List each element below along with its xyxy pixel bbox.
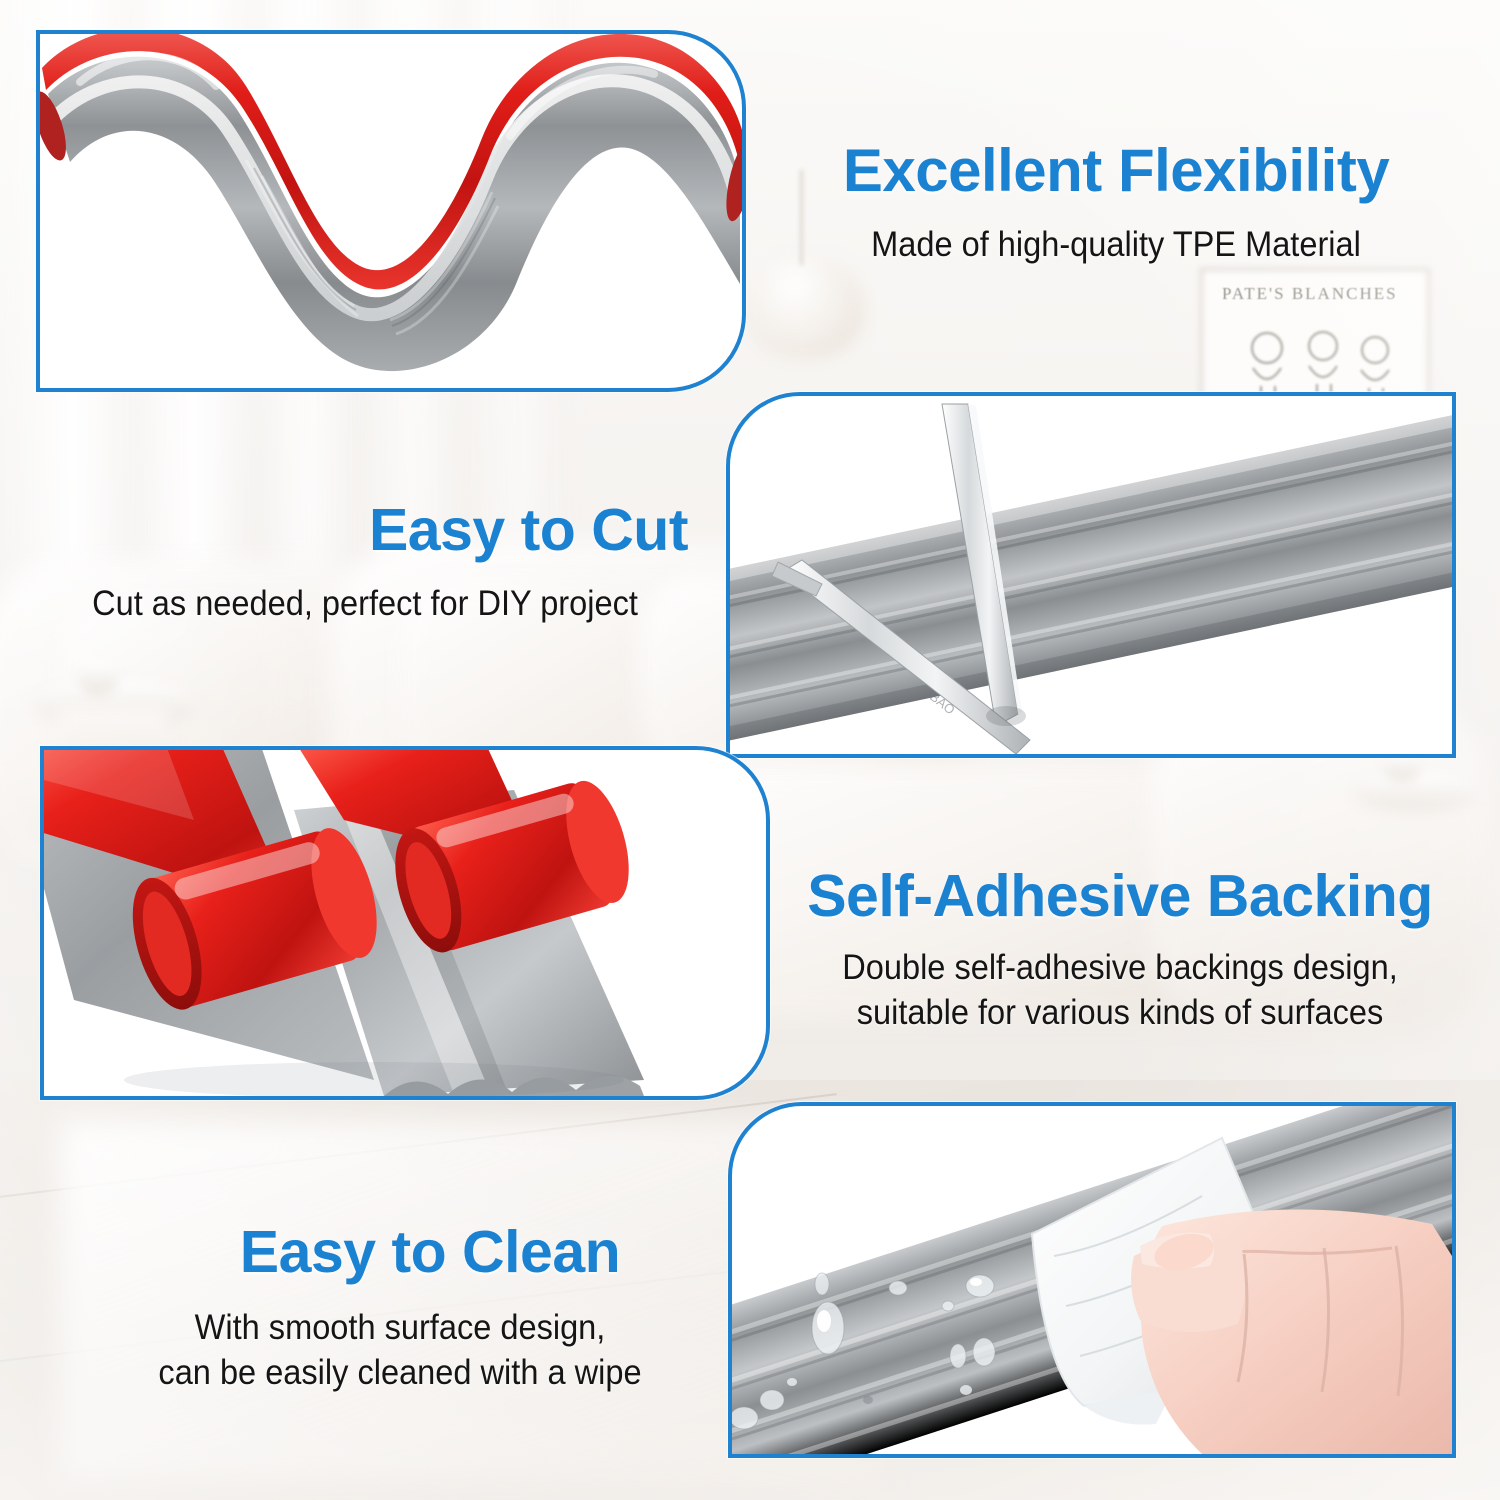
- feature-body-self-adhesive-line2: suitable for various kinds of surfaces: [795, 992, 1446, 1035]
- feature-text-self-adhesive: Self-Adhesive Backing Double self-adhesi…: [770, 866, 1470, 1035]
- feature-heading-easy-to-clean: Easy to Clean: [60, 1222, 740, 1283]
- feature-body-easy-to-clean-line2: can be easily cleaned with a wipe: [84, 1352, 716, 1395]
- feature-heading-flexibility: Excellent Flexibility: [760, 140, 1472, 202]
- feature-image-self-adhesive: [40, 746, 770, 1100]
- feature-text-flexibility: Excellent Flexibility Made of high-quali…: [760, 140, 1472, 267]
- feature-text-easy-to-cut: Easy to Cut Cut as needed, perfect for D…: [20, 500, 710, 626]
- feature-image-easy-to-cut: IBAO: [726, 392, 1456, 758]
- feature-heading-easy-to-cut: Easy to Cut: [20, 500, 710, 561]
- hand: [1131, 1209, 1452, 1454]
- feature-text-easy-to-clean: Easy to Clean With smooth surface design…: [60, 1222, 740, 1395]
- feature-heading-self-adhesive: Self-Adhesive Backing: [770, 866, 1470, 927]
- feature-body-self-adhesive-line1: Double self-adhesive backings design,: [795, 947, 1446, 990]
- feature-body-easy-to-cut-line1: Cut as needed, perfect for DIY project: [44, 583, 686, 626]
- twisted-strip-illustration: [40, 34, 742, 388]
- adhesive-liner-illustration: [44, 750, 766, 1096]
- wipe-cleaning-illustration: [732, 1106, 1452, 1454]
- feature-image-flexibility: [36, 30, 746, 392]
- feature-image-easy-to-clean: [728, 1102, 1456, 1458]
- feature-body-easy-to-clean-line1: With smooth surface design,: [84, 1307, 716, 1350]
- scissors-cutting-illustration: IBAO: [730, 396, 1452, 754]
- feature-body-flexibility-line1: Made of high-quality TPE Material: [785, 224, 1447, 267]
